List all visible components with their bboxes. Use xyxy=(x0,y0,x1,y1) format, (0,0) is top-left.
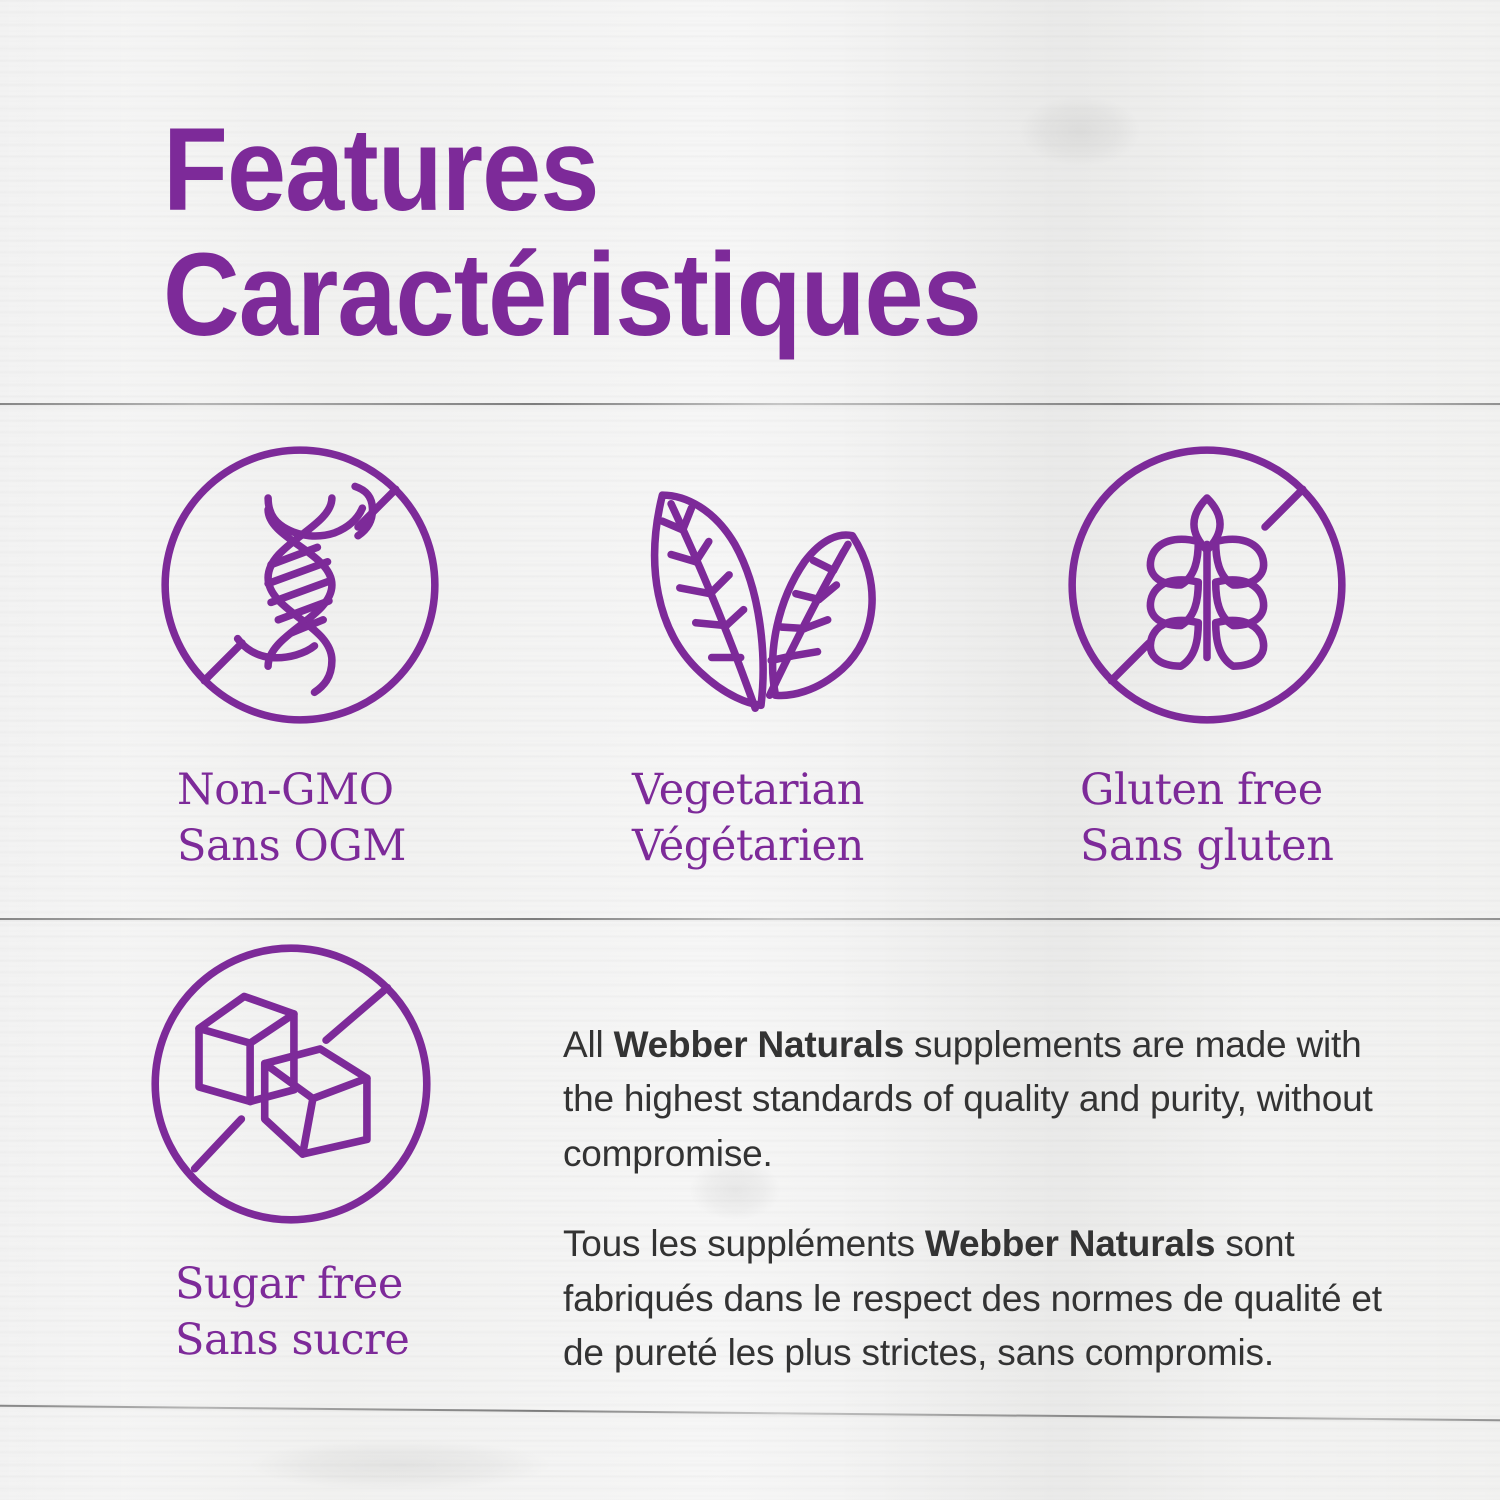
no-wheat-icon xyxy=(1062,440,1352,735)
no-gmo-dna-icon xyxy=(155,440,445,735)
feature-label-en: Vegetarian xyxy=(632,765,864,815)
wood-plank-background: Features Caractéristiques xyxy=(0,0,1500,1500)
page-title: Features Caractéristiques xyxy=(163,108,1207,358)
feature-label-fr: Sans OGM xyxy=(177,819,445,875)
feature-label-fr: Sans gluten xyxy=(1080,819,1352,875)
page-title-fr: Caractéristiques xyxy=(163,233,1207,358)
statement-fr-before: Tous les suppléments xyxy=(563,1223,925,1264)
feature-label: Sugar free Sans sucre xyxy=(175,1257,437,1369)
two-leaves-icon xyxy=(616,440,906,735)
feature-label: Non-GMO Sans OGM xyxy=(177,763,445,875)
brand-statement-fr: Tous les suppléments Webber Naturals son… xyxy=(563,1217,1393,1380)
feature-label: Vegetarian Végétarien xyxy=(632,763,906,875)
feature-non-gmo: Non-GMO Sans OGM xyxy=(155,440,445,875)
brand-name-en: Webber Naturals xyxy=(614,1024,904,1065)
feature-label-fr: Végétarien xyxy=(632,819,906,875)
feature-label-en: Gluten free xyxy=(1080,765,1323,815)
brand-statement: All Webber Naturals supplements are made… xyxy=(563,1018,1393,1380)
page-title-en: Features xyxy=(163,104,599,236)
statement-en-before: All xyxy=(563,1024,614,1065)
feature-label: Gluten free Sans gluten xyxy=(1080,763,1352,875)
feature-label-en: Non-GMO xyxy=(177,765,394,815)
feature-sugar-free: Sugar free Sans sucre xyxy=(145,938,437,1369)
feature-vegetarian: Vegetarian Végétarien xyxy=(616,440,906,875)
feature-label-fr: Sans sucre xyxy=(175,1313,437,1369)
brand-name-fr: Webber Naturals xyxy=(925,1223,1215,1264)
brand-statement-en: All Webber Naturals supplements are made… xyxy=(563,1018,1393,1181)
feature-label-en: Sugar free xyxy=(175,1259,403,1309)
feature-gluten-free: Gluten free Sans gluten xyxy=(1062,440,1352,875)
no-sugar-cubes-icon xyxy=(145,938,437,1235)
